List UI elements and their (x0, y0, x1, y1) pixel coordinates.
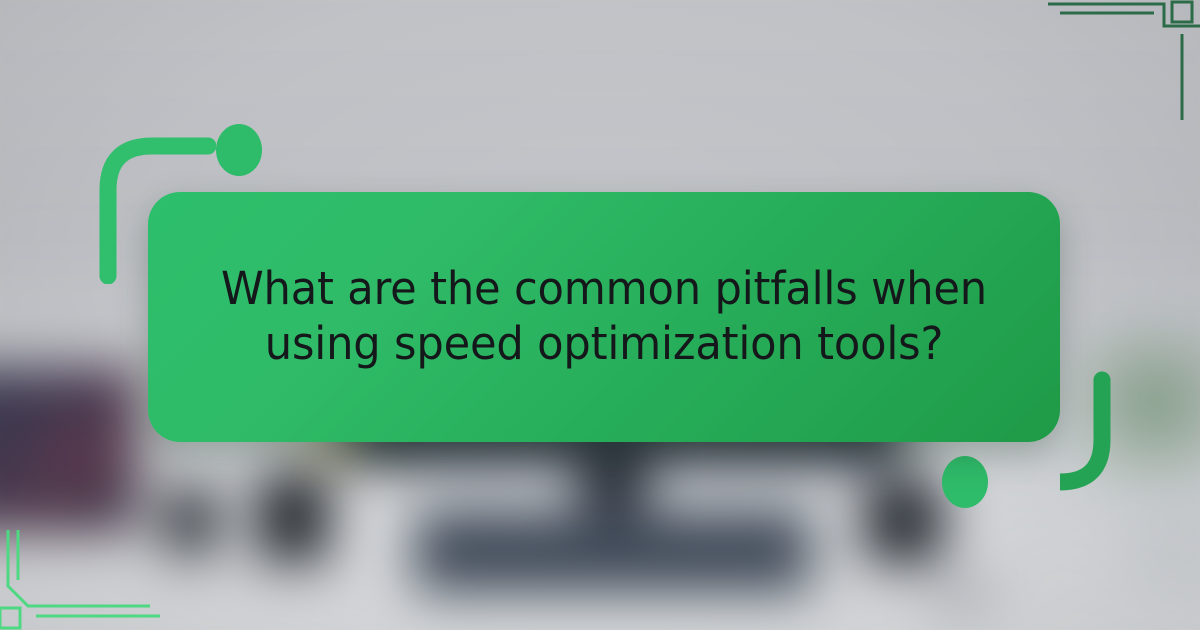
slide-canvas: What are the common pitfalls when using … (0, 0, 1200, 630)
accent-dot-top-left-icon (216, 124, 262, 176)
question-card: What are the common pitfalls when using … (148, 192, 1060, 442)
accent-dot-bottom-right-icon (942, 456, 988, 508)
question-text: What are the common pitfalls when using … (220, 262, 988, 372)
